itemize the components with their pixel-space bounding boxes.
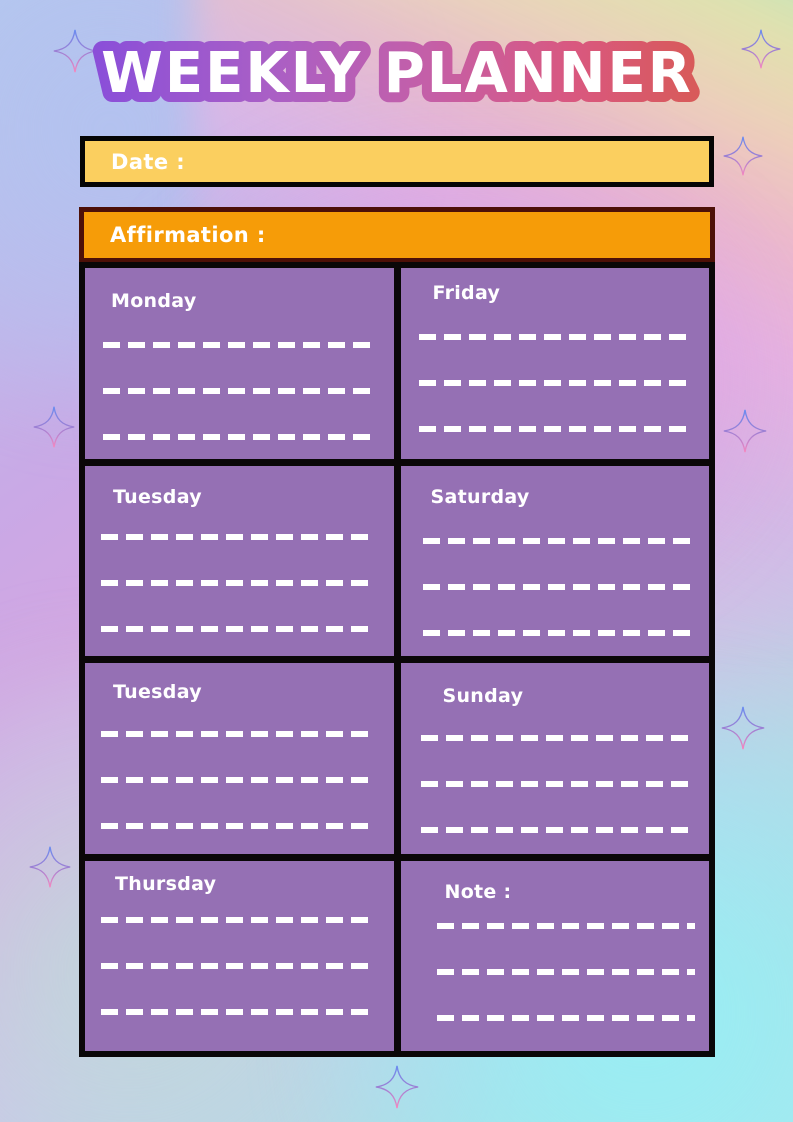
planner-cell-writing-lines[interactable] bbox=[423, 538, 696, 636]
dashed-line[interactable] bbox=[421, 827, 694, 833]
dashed-line[interactable] bbox=[103, 342, 376, 348]
dashed-line[interactable] bbox=[437, 969, 696, 975]
planner-cell-friday[interactable]: Friday bbox=[401, 268, 710, 459]
dashed-line[interactable] bbox=[421, 735, 694, 741]
dashed-line[interactable] bbox=[101, 777, 372, 783]
planner-cell-writing-lines[interactable] bbox=[419, 334, 692, 432]
planner-cell-writing-lines[interactable] bbox=[103, 342, 376, 440]
date-field-label: Date : bbox=[111, 150, 185, 174]
planner-cell-writing-lines[interactable] bbox=[101, 534, 372, 632]
planner-cell-label: Tuesday bbox=[113, 681, 202, 703]
affirmation-field[interactable]: Affirmation : bbox=[79, 207, 715, 263]
page-title: WEEKLY PLANNER WEEKLY PLANNER bbox=[0, 28, 793, 116]
planner-cell-thursday[interactable]: Thursday bbox=[85, 861, 394, 1052]
planner-cell-tuesday[interactable]: Tuesday bbox=[85, 466, 394, 657]
dashed-line[interactable] bbox=[421, 781, 694, 787]
planner-cell-label: Note : bbox=[445, 881, 512, 903]
dashed-line[interactable] bbox=[437, 923, 696, 929]
svg-text:WEEKLY PLANNER: WEEKLY PLANNER bbox=[101, 41, 693, 106]
planner-cell-writing-lines[interactable] bbox=[101, 917, 372, 1015]
planner-cell-label: Friday bbox=[433, 282, 501, 304]
date-field[interactable]: Date : bbox=[80, 136, 714, 187]
dashed-line[interactable] bbox=[419, 426, 692, 432]
dashed-line[interactable] bbox=[423, 538, 696, 544]
dashed-line[interactable] bbox=[437, 1015, 696, 1021]
dashed-line[interactable] bbox=[101, 626, 372, 632]
dashed-line[interactable] bbox=[103, 388, 376, 394]
planner-cell-writing-lines[interactable] bbox=[421, 735, 694, 833]
dashed-line[interactable] bbox=[101, 823, 372, 829]
dashed-line[interactable] bbox=[101, 534, 372, 540]
dashed-line[interactable] bbox=[101, 731, 372, 737]
affirmation-field-label: Affirmation : bbox=[110, 223, 266, 247]
planner-cell-writing-lines[interactable] bbox=[101, 731, 372, 829]
planner-cell-tuesday[interactable]: Tuesday bbox=[85, 663, 394, 854]
dashed-line[interactable] bbox=[423, 630, 696, 636]
dashed-line[interactable] bbox=[419, 334, 692, 340]
dashed-line[interactable] bbox=[419, 380, 692, 386]
planner-cell-writing-lines[interactable] bbox=[437, 923, 696, 1021]
planner-cell-label: Thursday bbox=[115, 873, 216, 895]
dashed-line[interactable] bbox=[101, 580, 372, 586]
planner-cell-note[interactable]: Note : bbox=[401, 861, 710, 1052]
planner-cell-monday[interactable]: Monday bbox=[85, 268, 394, 459]
planner-cell-label: Saturday bbox=[431, 486, 530, 508]
dashed-line[interactable] bbox=[423, 584, 696, 590]
planner-grid: MondayFridayTuesdaySaturdayTuesdaySunday… bbox=[79, 262, 715, 1057]
planner-cell-saturday[interactable]: Saturday bbox=[401, 466, 710, 657]
planner-cell-label: Sunday bbox=[443, 685, 524, 707]
planner-cell-sunday[interactable]: Sunday bbox=[401, 663, 710, 854]
planner-cell-label: Tuesday bbox=[113, 486, 202, 508]
dashed-line[interactable] bbox=[101, 963, 372, 969]
dashed-line[interactable] bbox=[101, 1009, 372, 1015]
dashed-line[interactable] bbox=[101, 917, 372, 923]
weekly-planner-page: WEEKLY PLANNER WEEKLY PLANNER Date : Aff… bbox=[0, 0, 793, 1122]
planner-cell-label: Monday bbox=[111, 290, 197, 312]
dashed-line[interactable] bbox=[103, 434, 376, 440]
